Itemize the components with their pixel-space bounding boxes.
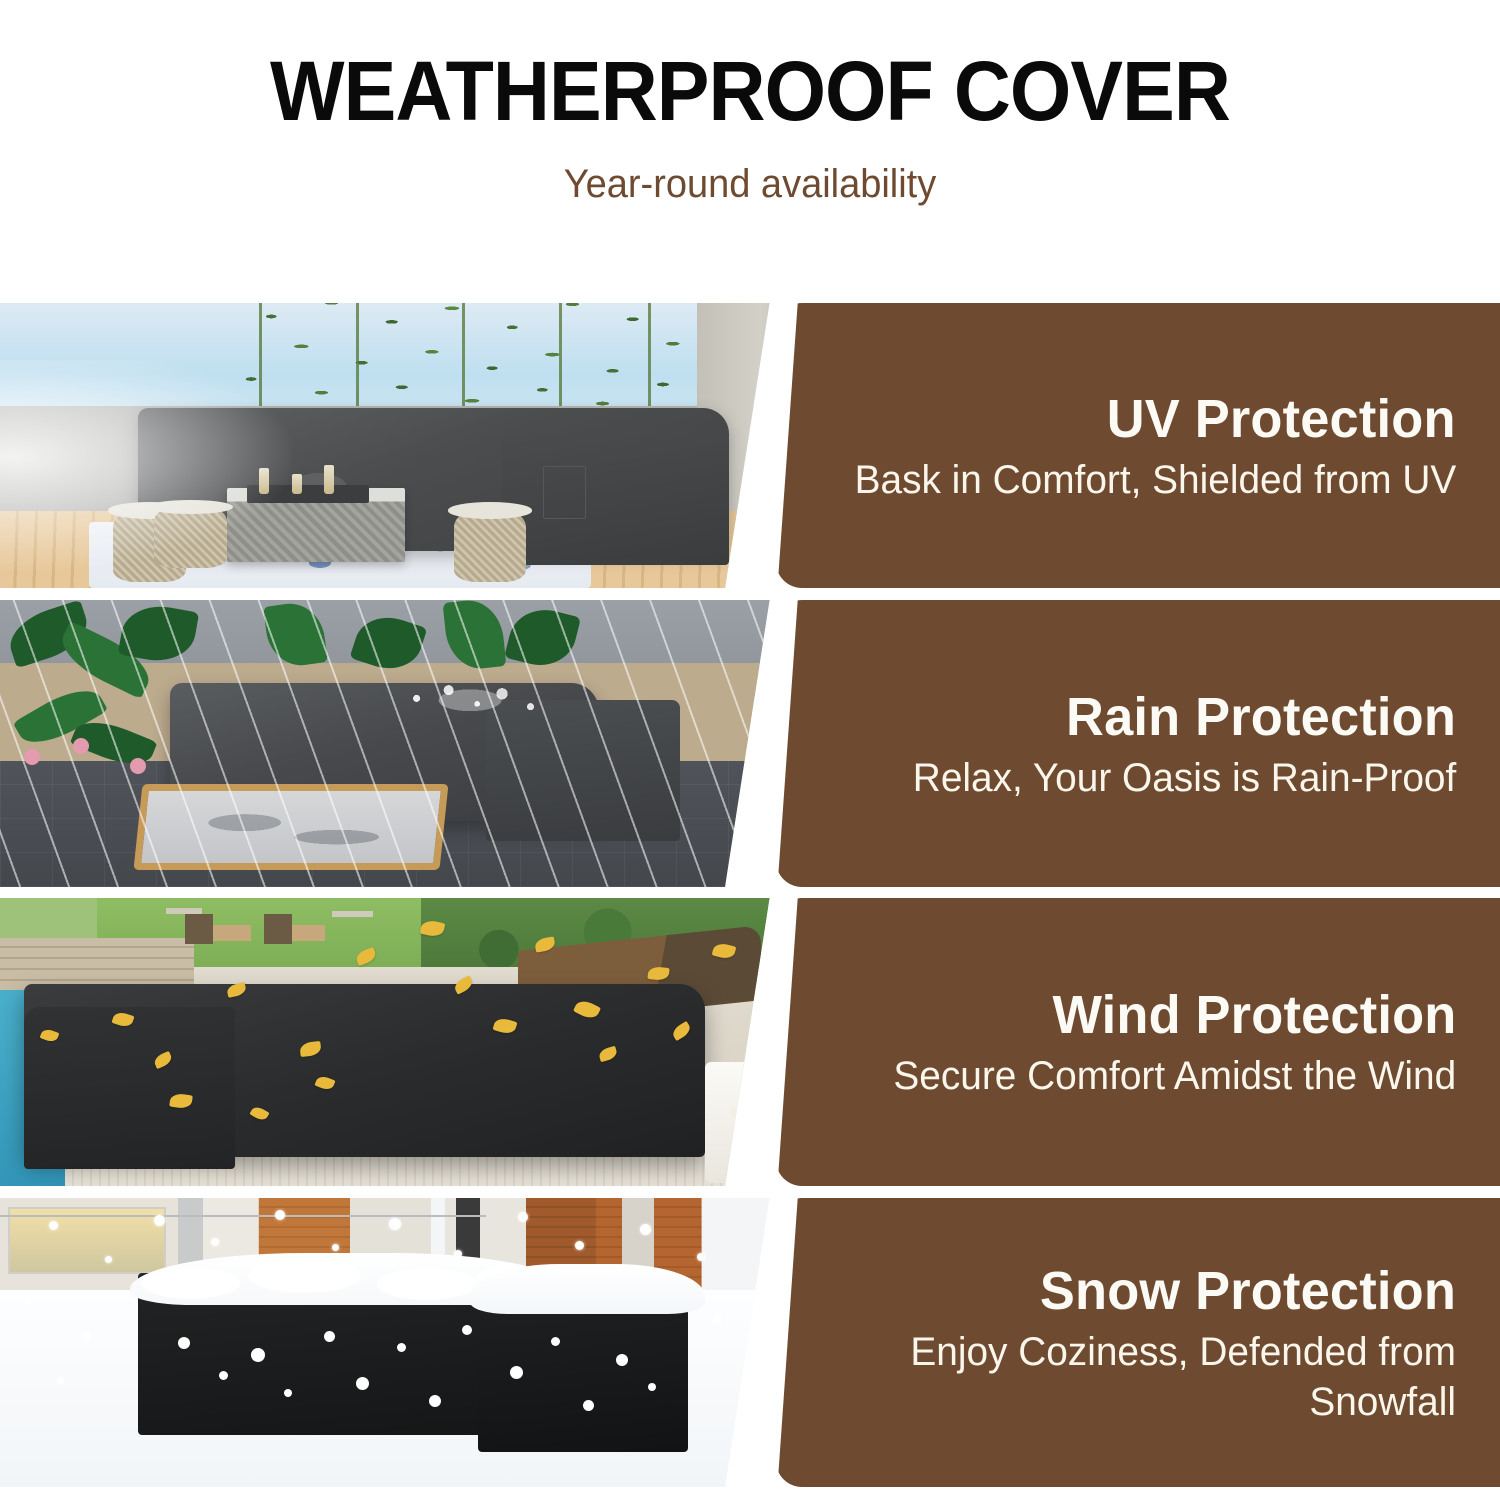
feature-row-rain: Rain Protection Relax, Your Oasis is Rai… [0,600,1500,887]
snow-speck [510,1366,523,1379]
furniture-cover-side [502,431,729,565]
feature-text-rain: Rain Protection Relax, Your Oasis is Rai… [816,600,1456,887]
feature-panel-wind: Wind Protection Secure Comfort Amidst th… [776,898,1500,1186]
snowflake [713,1314,722,1323]
snowflake [745,1366,753,1374]
snow-speck [616,1354,628,1366]
feature-text-snow: Snow Protection Enjoy Coziness, Defended… [816,1198,1456,1487]
feature-title-rain: Rain Protection [1066,685,1456,749]
infographic-page: WEATHERPROOF COVER Year-round availabili… [0,0,1500,1495]
snow-speck [429,1395,441,1407]
page-subtitle: Year-round availability [38,158,1463,210]
feature-panel-rain: Rain Protection Relax, Your Oasis is Rai… [776,600,1500,887]
feature-row-wind: Wind Protection Secure Comfort Amidst th… [0,898,1500,1186]
snow-speck [284,1389,292,1397]
water-splash [381,680,559,726]
feature-text-wind: Wind Protection Secure Comfort Amidst th… [816,898,1456,1186]
glass-railing [0,1215,486,1217]
sun-glare [0,360,292,571]
feature-subtitle-rain: Relax, Your Oasis is Rain-Proof [913,753,1456,803]
flower [130,758,146,774]
feature-photo-uv [0,303,810,588]
feature-photo-uv-frame [0,303,810,588]
bottle [292,474,302,494]
snow-pile-side [470,1264,705,1313]
patio-chairs [162,901,421,964]
snowflake [49,1221,58,1230]
feature-photo-snow-frame [0,1198,810,1487]
feature-photo-rain-frame [0,600,810,887]
feature-row-uv: UV Protection Bask in Comfort, Shielded … [0,303,1500,588]
feature-panel-uv: UV Protection Bask in Comfort, Shielded … [776,303,1500,588]
feature-title-snow: Snow Protection [1040,1259,1456,1323]
feature-title-uv: UV Protection [1107,387,1456,451]
feature-subtitle-wind: Secure Comfort Amidst the Wind [893,1051,1456,1101]
snow-speck [551,1337,560,1346]
snowflake [389,1218,401,1230]
snow-speck [324,1331,335,1342]
feature-photo-snow [0,1198,810,1487]
scene-snowy-terrace [0,1198,810,1487]
scene-sunny-patio [0,303,810,588]
snow-speck [178,1337,190,1349]
snowflake [275,1210,285,1220]
snowflake [81,1331,91,1341]
scene-poolside [0,898,810,1186]
snowflake [57,1377,64,1384]
feature-row-snow: Snow Protection Enjoy Coziness, Defended… [0,1198,1500,1487]
snowflake [640,1224,651,1235]
feature-title-wind: Wind Protection [1052,983,1456,1047]
snow-speck [648,1383,656,1391]
scene-rainy-patio [0,600,810,887]
header: WEATHERPROOF COVER Year-round availabili… [0,0,1500,295]
snowflake [697,1253,705,1261]
snow-speck [397,1343,406,1352]
flower [73,738,89,754]
wicker-stool [454,508,527,582]
snow-speck [462,1325,472,1335]
feature-subtitle-uv: Bask in Comfort, Shielded from UV [854,455,1456,505]
bottle [324,465,334,494]
feature-photo-wind [0,898,810,1186]
marble-table [133,784,448,870]
feature-photo-wind-frame [0,898,810,1186]
feature-subtitle-snow: Enjoy Coziness, Defended from Snowfall [835,1327,1456,1427]
feature-panel-snow: Snow Protection Enjoy Coziness, Defended… [776,1198,1500,1487]
page-title: WEATHERPROOF COVER [45,45,1455,137]
feature-text-uv: UV Protection Bask in Comfort, Shielded … [816,303,1456,588]
snowflake [454,1250,462,1258]
feature-photo-rain [0,600,810,887]
